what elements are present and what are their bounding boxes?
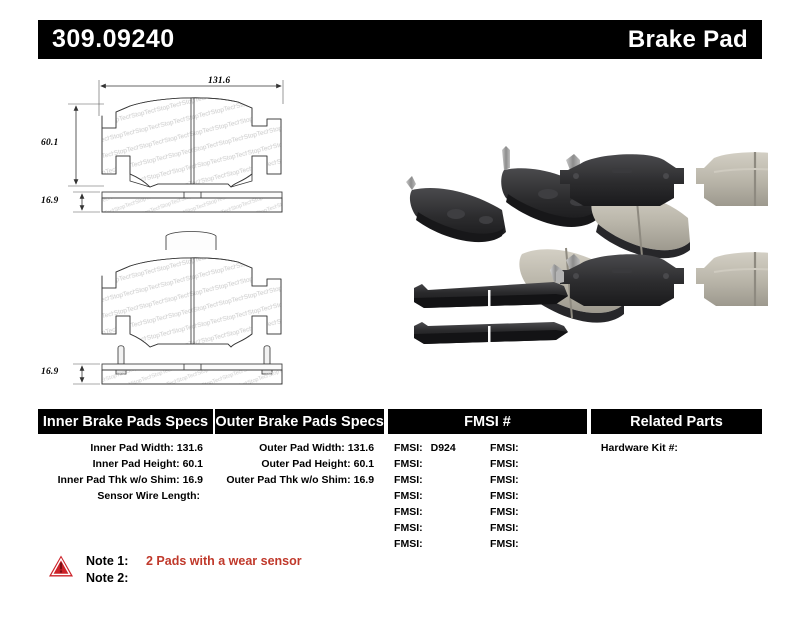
fmsi-row: FMSI: [394, 456, 490, 472]
column-header-related-parts: Related Parts [591, 409, 762, 434]
fmsi-row: FMSI: [394, 536, 490, 552]
specs-table-body-row: Inner Pad Width:131.6 Inner Pad Height:6… [38, 440, 762, 552]
note-row: Note 2: [86, 570, 302, 587]
related-parts-cell: Hardware Kit #: [591, 440, 762, 552]
fmsi-label: FMSI: [490, 490, 519, 502]
outer-spec-row [215, 488, 384, 504]
note-value: 2 Pads with a wear sensor [146, 553, 302, 570]
notes-section: Note 1: 2 Pads with a wear sensor Note 2… [48, 552, 302, 587]
fmsi-label: FMSI: [490, 442, 519, 454]
photo-edge-view-panel [404, 246, 674, 356]
header-bar: 309.09240 Brake Pad [38, 20, 762, 59]
fmsi-label: FMSI: [490, 458, 519, 470]
fmsi-row: FMSI: [490, 488, 586, 504]
column-header-outer-specs: Outer Brake Pads Specs [215, 409, 384, 434]
dim-width-label: 131.6 [208, 76, 230, 86]
fmsi-column-left: FMSI:D924 FMSI: FMSI: FMSI: FMSI: FMSI: … [394, 440, 490, 552]
brake-pad-drawing-svg: StopTech StopTech [38, 64, 398, 394]
note-row: Note 1: 2 Pads with a wear sensor [86, 553, 302, 570]
fmsi-row: FMSI: [490, 472, 586, 488]
fmsi-label: FMSI: [394, 506, 423, 518]
note-label: Note 1: [86, 553, 138, 570]
brake-pad-edge-svg [404, 246, 674, 356]
fmsi-label: FMSI: [394, 474, 423, 486]
inner-spec-row: Sensor Wire Length: [38, 488, 213, 504]
fmsi-row: FMSI: [490, 456, 586, 472]
fmsi-label: FMSI: [394, 538, 423, 550]
dim-height-label: 60.1 [41, 138, 58, 148]
inner-spec-label: Sensor Wire Length: [97, 490, 200, 502]
fmsi-label: FMSI: [394, 442, 423, 454]
fmsi-row: FMSI:D924 [394, 440, 490, 456]
fmsi-label: FMSI: [490, 522, 519, 534]
fmsi-label: FMSI: [490, 538, 519, 550]
fmsi-row: FMSI: [394, 488, 490, 504]
inner-spec-row: Inner Pad Width:131.6 [38, 440, 213, 456]
inner-spec-label: Inner Pad Width: [90, 442, 173, 454]
part-number: 309.09240 [52, 27, 175, 52]
fmsi-label: FMSI: [394, 458, 423, 470]
outer-spec-label: Outer Pad Height: [261, 458, 350, 470]
inner-spec-value: 131.6 [177, 442, 203, 454]
inner-spec-row: Inner Pad Height:60.1 [38, 456, 213, 472]
specs-table: Inner Brake Pads Specs Outer Brake Pads … [38, 409, 762, 552]
fmsi-row: FMSI: [490, 440, 586, 456]
outer-spec-label: Outer Pad Thk w/o Shim: [226, 474, 350, 486]
inner-spec-value: 16.9 [183, 474, 203, 486]
fmsi-row: FMSI: [490, 536, 586, 552]
fmsi-cell: FMSI:D924 FMSI: FMSI: FMSI: FMSI: FMSI: … [388, 440, 587, 552]
outer-spec-value: 60.1 [354, 458, 374, 470]
specs-table-header-row: Inner Brake Pads Specs Outer Brake Pads … [38, 409, 762, 434]
inner-spec-row: Inner Pad Thk w/o Shim:16.9 [38, 472, 213, 488]
inner-spec-label: Inner Pad Thk w/o Shim: [58, 474, 180, 486]
outer-spec-label: Outer Pad Width: [259, 442, 345, 454]
related-part-row: Hardware Kit #: [601, 440, 762, 456]
fmsi-label: FMSI: [394, 490, 423, 502]
outer-spec-value: 131.6 [348, 442, 374, 454]
note-label: Note 2: [86, 570, 138, 587]
outer-spec-row: Outer Pad Width:131.6 [215, 440, 384, 456]
technical-drawing-panel: StopTech StopTech [38, 64, 398, 394]
page-title: Brake Pad [628, 28, 748, 52]
inner-spec-value: 60.1 [183, 458, 203, 470]
edge-pad-plain [414, 322, 568, 344]
fmsi-label: FMSI: [394, 522, 423, 534]
fmsi-column-right: FMSI: FMSI: FMSI: FMSI: FMSI: FMSI: FMSI… [490, 440, 586, 552]
dim-thickness-label-upper: 16.9 [41, 196, 58, 206]
column-header-inner-specs: Inner Brake Pads Specs [38, 409, 213, 434]
fmsi-label: FMSI: [490, 506, 519, 518]
fmsi-row: FMSI: [490, 520, 586, 536]
column-header-fmsi: FMSI # [388, 409, 587, 434]
notes-text-block: Note 1: 2 Pads with a wear sensor Note 2… [86, 552, 302, 587]
outer-spec-value: 16.9 [354, 474, 374, 486]
outer-specs-cell: Outer Pad Width:131.6 Outer Pad Height:6… [215, 440, 384, 552]
inner-spec-label: Inner Pad Height: [93, 458, 180, 470]
warning-triangle-icon [48, 554, 74, 578]
edge-pad-with-sensor [414, 264, 568, 308]
fmsi-row: FMSI: [394, 520, 490, 536]
fmsi-label: FMSI: [490, 474, 519, 486]
outer-spec-row: Outer Pad Height:60.1 [215, 456, 384, 472]
fmsi-row: FMSI: [394, 472, 490, 488]
dim-thickness-label-lower: 16.9 [41, 367, 58, 377]
inner-specs-cell: Inner Pad Width:131.6 Inner Pad Height:6… [38, 440, 213, 552]
related-part-label: Hardware Kit #: [601, 442, 678, 454]
outer-spec-row: Outer Pad Thk w/o Shim:16.9 [215, 472, 384, 488]
fmsi-row: FMSI: [394, 504, 490, 520]
fmsi-row: FMSI: [490, 504, 586, 520]
fmsi-value: D924 [431, 442, 456, 454]
